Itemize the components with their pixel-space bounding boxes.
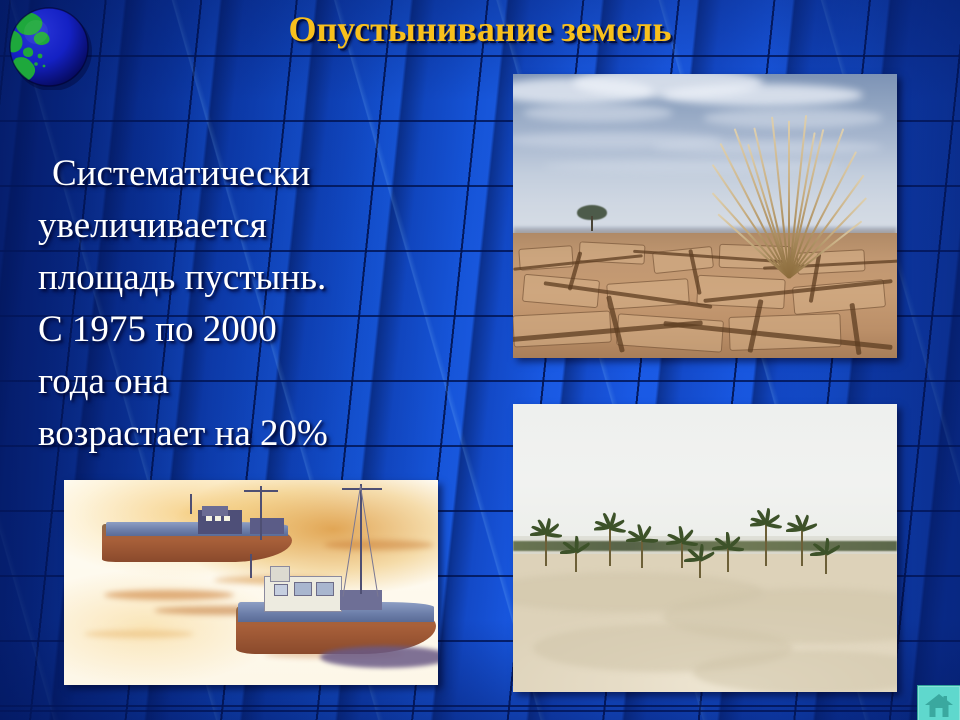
cracked-dry-earth-photo (513, 74, 897, 358)
body-line: увеличивается (38, 200, 448, 252)
palm-tree (727, 546, 729, 572)
palm-tree (545, 532, 547, 566)
stranded-ships-illustration (64, 480, 438, 685)
stranded-boat-rear (102, 508, 292, 562)
palm-tree (609, 526, 611, 566)
home-icon (924, 691, 954, 719)
stranded-boat-front (236, 566, 436, 664)
distant-tree-icon (577, 205, 607, 231)
palm-shrub (825, 552, 827, 574)
palm-tree (801, 528, 803, 566)
dry-bush (713, 119, 863, 278)
palm-shrub (575, 550, 577, 572)
home-button[interactable] (917, 685, 960, 720)
palm-tree (681, 540, 683, 568)
palm-shrub (699, 558, 701, 578)
palm-tree (765, 522, 767, 566)
sand-dunes-palms-photo (513, 404, 897, 692)
sand-dune-surface (513, 554, 897, 692)
slide-body-text: Систематически увеличивается площадь пус… (38, 148, 448, 460)
presentation-slide: Опустынивание земель Систематически увел… (0, 0, 960, 720)
palm-tree (641, 538, 643, 568)
body-line: года она (38, 356, 448, 408)
dune-sky (513, 404, 897, 548)
body-line: Систематически (38, 148, 448, 200)
body-line: С 1975 по 2000 (38, 304, 448, 356)
body-line: площадь пустынь. (38, 252, 448, 304)
slide-title: Опустынивание земель (0, 8, 960, 50)
body-line: возрастает на 20% (38, 408, 448, 460)
